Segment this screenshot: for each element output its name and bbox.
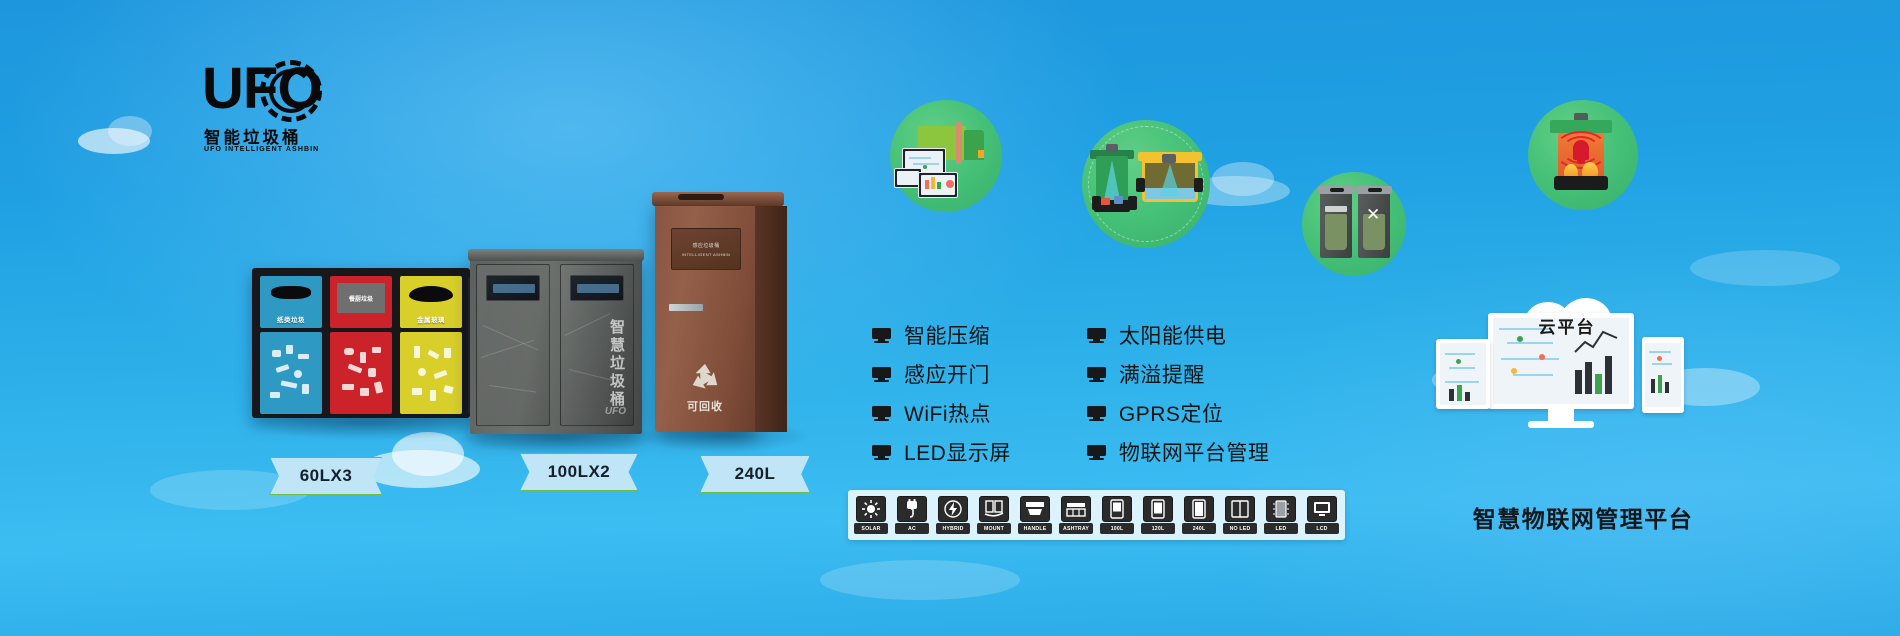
spec-icon-label: 120L bbox=[1141, 523, 1175, 534]
feature-item: 满溢提醒 bbox=[1087, 359, 1270, 389]
feature-item: 智能压缩 bbox=[872, 320, 1011, 350]
feature-item: GPRS定位 bbox=[1087, 398, 1270, 428]
spec-icon-100l: 100L bbox=[1100, 496, 1134, 534]
bin-unit-open bbox=[1320, 192, 1352, 258]
spec-icon-label: 100L bbox=[1100, 523, 1134, 534]
lightning-bolt-icon bbox=[938, 496, 968, 522]
smartphone-device bbox=[1642, 337, 1684, 413]
feature-label: GPRS定位 bbox=[1119, 398, 1224, 428]
spec-icon-ashtray: ASHTRAY bbox=[1059, 496, 1093, 534]
sensor-icon bbox=[1106, 144, 1118, 152]
bin-panel-label: 纸类垃圾 bbox=[277, 314, 305, 328]
recycle-arrows-icon bbox=[686, 361, 724, 395]
spec-icon-solar: SOLAR bbox=[854, 496, 888, 534]
feature-label: WiFi热点 bbox=[904, 398, 991, 428]
bin-panel-bottom bbox=[400, 332, 462, 414]
bin-panel-top: 餐厨垃圾 bbox=[330, 276, 392, 328]
circle-fire-alarm bbox=[1528, 100, 1638, 210]
spec-icon-label: LED bbox=[1264, 523, 1298, 534]
capacity-badge-100lx2: 100LX2 bbox=[520, 453, 638, 491]
spec-icon-label: AC bbox=[895, 523, 929, 534]
feature-label: LED显示屏 bbox=[904, 437, 1011, 467]
monitor-icon bbox=[1087, 445, 1106, 460]
bin-panel-screen-text: 餐厨垃圾 bbox=[349, 294, 373, 303]
feature-item: LED显示屏 bbox=[872, 437, 1011, 467]
bin-wheel bbox=[1128, 196, 1137, 210]
led-display-icon bbox=[486, 275, 540, 301]
bin-info-plate: 感应垃圾桶 INTELLIGENT ASHBIN bbox=[671, 228, 741, 270]
bin-plate-line2: INTELLIGENT ASHBIN bbox=[682, 252, 731, 257]
oval-slot-icon bbox=[271, 286, 311, 299]
monitor-icon bbox=[1087, 328, 1106, 343]
spec-icon-label: HYBRID bbox=[936, 523, 970, 534]
led-display-icon bbox=[570, 275, 624, 301]
bin-panel-top: 纸类垃圾 bbox=[260, 276, 322, 328]
grey-double-bin: 智慧垃圾桶 UFO bbox=[470, 256, 642, 434]
spec-icon-120l: 120L bbox=[1141, 496, 1175, 534]
spec-icon-label: 240L bbox=[1182, 523, 1216, 534]
triple-sort-bin: 纸类垃圾 餐厨垃圾 bbox=[252, 268, 470, 418]
sensor-beam-icon bbox=[1104, 160, 1120, 200]
spec-icon-lcd: LCD bbox=[1305, 496, 1339, 534]
promo-banner: UFO 智能垃圾桶 UFO INTELLIGENT ASHBIN 纸类垃圾 bbox=[0, 0, 1900, 636]
bin-panel-label: 金属玻璃 bbox=[417, 314, 445, 328]
cloud-slot-icon bbox=[409, 286, 453, 302]
logo-chinese-name: 智能垃圾桶 bbox=[204, 124, 302, 148]
monitor-icon bbox=[872, 367, 891, 382]
logo-english-tagline: UFO INTELLIGENT ASHBIN bbox=[204, 146, 319, 153]
bin-100l-icon bbox=[1102, 496, 1132, 522]
bin-240l-icon bbox=[1184, 496, 1214, 522]
spec-icon-label: HANDLE bbox=[1018, 523, 1052, 534]
capacity-badge-60lx3: 60LX3 bbox=[270, 457, 382, 495]
bin-unit-tied: ✕ bbox=[1358, 192, 1390, 258]
feature-label: 满溢提醒 bbox=[1119, 359, 1205, 389]
bin-panel-kitchen: 餐厨垃圾 bbox=[330, 276, 392, 414]
brand-logo: UFO 智能垃圾桶 UFO INTELLIGENT ASHBIN bbox=[202, 58, 322, 150]
bin-plate-line1: 感应垃圾桶 bbox=[692, 242, 719, 249]
bin-door-right: 智慧垃圾桶 UFO bbox=[560, 264, 634, 426]
cloud-decor bbox=[108, 116, 152, 146]
spec-icon-label: SOLAR bbox=[854, 523, 888, 534]
bin-120l-icon bbox=[1143, 496, 1173, 522]
bin-panel-metal-glass: 金属玻璃 bbox=[400, 276, 462, 414]
spec-icon-label: ASHTRAY bbox=[1059, 523, 1093, 534]
feature-label: 太阳能供电 bbox=[1119, 320, 1227, 350]
spec-icon-ac: AC bbox=[895, 496, 929, 534]
truck-arm bbox=[956, 122, 962, 164]
spec-icon-hybrid: HYBRID bbox=[936, 496, 970, 534]
led-panel-icon bbox=[1266, 496, 1296, 522]
bin-panel-top: 金属玻璃 bbox=[400, 276, 462, 328]
monitor-icon bbox=[872, 445, 891, 460]
bin-lid bbox=[652, 192, 784, 206]
recycle-label: 可回收 bbox=[687, 398, 723, 414]
laptop-device-icon bbox=[918, 172, 958, 198]
circle-compaction: ✕ bbox=[1302, 172, 1406, 276]
feature-item: WiFi热点 bbox=[872, 398, 1011, 428]
monitor-base bbox=[1528, 421, 1594, 428]
spec-icon-label: LCD bbox=[1305, 523, 1339, 534]
bin-wheel bbox=[1194, 178, 1203, 192]
platform-title: 智慧物联网管理平台 bbox=[1428, 500, 1738, 534]
monitor-icon bbox=[872, 328, 891, 343]
bin-panel-bottom bbox=[260, 332, 322, 414]
cloud-decor bbox=[1212, 162, 1274, 196]
screen-panel: 餐厨垃圾 bbox=[337, 283, 385, 313]
capacity-badge-label: 240L bbox=[735, 464, 776, 484]
tablet-screen bbox=[1440, 343, 1486, 405]
spec-icon-label: MOUNT bbox=[977, 523, 1011, 534]
bag-tie-icon: ✕ bbox=[1366, 206, 1380, 223]
handle-icon bbox=[1020, 496, 1050, 522]
spec-icon-handle: HANDLE bbox=[1018, 496, 1052, 534]
capacity-badge-label: 100LX2 bbox=[548, 462, 611, 482]
bin-cap bbox=[468, 249, 644, 261]
bin-panel-paper: 纸类垃圾 bbox=[260, 276, 322, 414]
cloud-platform-tag: 云平台 bbox=[1508, 298, 1626, 354]
spec-icon-mount: MOUNT bbox=[977, 496, 1011, 534]
sun-icon bbox=[856, 496, 886, 522]
compression-plate-icon bbox=[1325, 206, 1347, 212]
bin-vertical-text: 智慧垃圾桶 bbox=[606, 319, 627, 409]
wall-mount-icon bbox=[979, 496, 1009, 522]
feature-label: 感应开门 bbox=[904, 359, 990, 389]
capacity-badge-label: 60LX3 bbox=[300, 466, 353, 486]
spec-icon-led: LED bbox=[1264, 496, 1298, 534]
spec-icon-no-led: NO LED bbox=[1223, 496, 1257, 534]
alarm-bell-icon bbox=[1573, 140, 1589, 160]
deposit-slot-icon bbox=[1330, 188, 1344, 192]
logo-mark: UFO bbox=[202, 58, 322, 126]
feature-item: 物联网平台管理 bbox=[1087, 437, 1270, 467]
feature-column-left: 智能压缩 感应开门 WiFi热点 LED显示屏 bbox=[872, 320, 1011, 467]
bin-wheel bbox=[1136, 178, 1145, 192]
waste-bag-icon bbox=[1325, 214, 1347, 250]
capacity-badge-240l: 240L bbox=[700, 455, 810, 493]
feature-list: 智能压缩 感应开门 WiFi热点 LED显示屏 太阳能供电 满溢提醒 bbox=[872, 320, 1269, 467]
monitor-icon bbox=[1087, 406, 1106, 421]
bin-base bbox=[1554, 176, 1608, 190]
lcd-screen-icon bbox=[1307, 496, 1337, 522]
cloud-decor bbox=[820, 560, 1020, 600]
cloud-decor bbox=[1690, 250, 1840, 286]
bin-wheel bbox=[1092, 196, 1101, 210]
power-plug-icon bbox=[897, 496, 927, 522]
circle-fill-level bbox=[1082, 120, 1210, 248]
feature-item: 太阳能供电 bbox=[1087, 320, 1270, 350]
smartphone-screen bbox=[1645, 343, 1681, 407]
no-led-icon bbox=[1225, 496, 1255, 522]
monitor-icon bbox=[872, 406, 891, 421]
deposit-slot-icon bbox=[1368, 188, 1382, 192]
bin-flank bbox=[755, 206, 787, 432]
ashtray-icon bbox=[1061, 496, 1091, 522]
tablet-device bbox=[1436, 339, 1490, 409]
feature-item: 感应开门 bbox=[872, 359, 1011, 389]
bin-door-left bbox=[476, 264, 550, 426]
truck-lamp bbox=[978, 150, 984, 158]
spec-icon-240l: 240L bbox=[1182, 496, 1216, 534]
feature-label: 智能压缩 bbox=[904, 320, 990, 350]
feature-label: 物联网平台管理 bbox=[1119, 437, 1270, 467]
recycle-mark: 可回收 bbox=[655, 361, 755, 414]
cloud-platform-label: 云平台 bbox=[1508, 298, 1626, 354]
inner-ring-icon bbox=[269, 69, 313, 113]
brown-single-bin: 感应垃圾桶 INTELLIGENT ASHBIN 可回收 bbox=[655, 200, 787, 432]
deposit-slot-icon bbox=[678, 194, 724, 200]
spec-icon-label: NO LED bbox=[1223, 523, 1257, 534]
monitor-icon bbox=[1087, 367, 1106, 382]
bin-panel-bottom bbox=[330, 332, 392, 414]
spec-icon-strip: SOLAR AC HYBRID bbox=[848, 490, 1345, 540]
bin-badge bbox=[669, 304, 703, 311]
sensor-beam-icon bbox=[1160, 164, 1180, 196]
feature-column-right: 太阳能供电 满溢提醒 GPRS定位 物联网平台管理 bbox=[1087, 320, 1270, 467]
bin-brand-mark: UFO bbox=[605, 406, 626, 417]
circle-smart-collection bbox=[890, 100, 1002, 212]
